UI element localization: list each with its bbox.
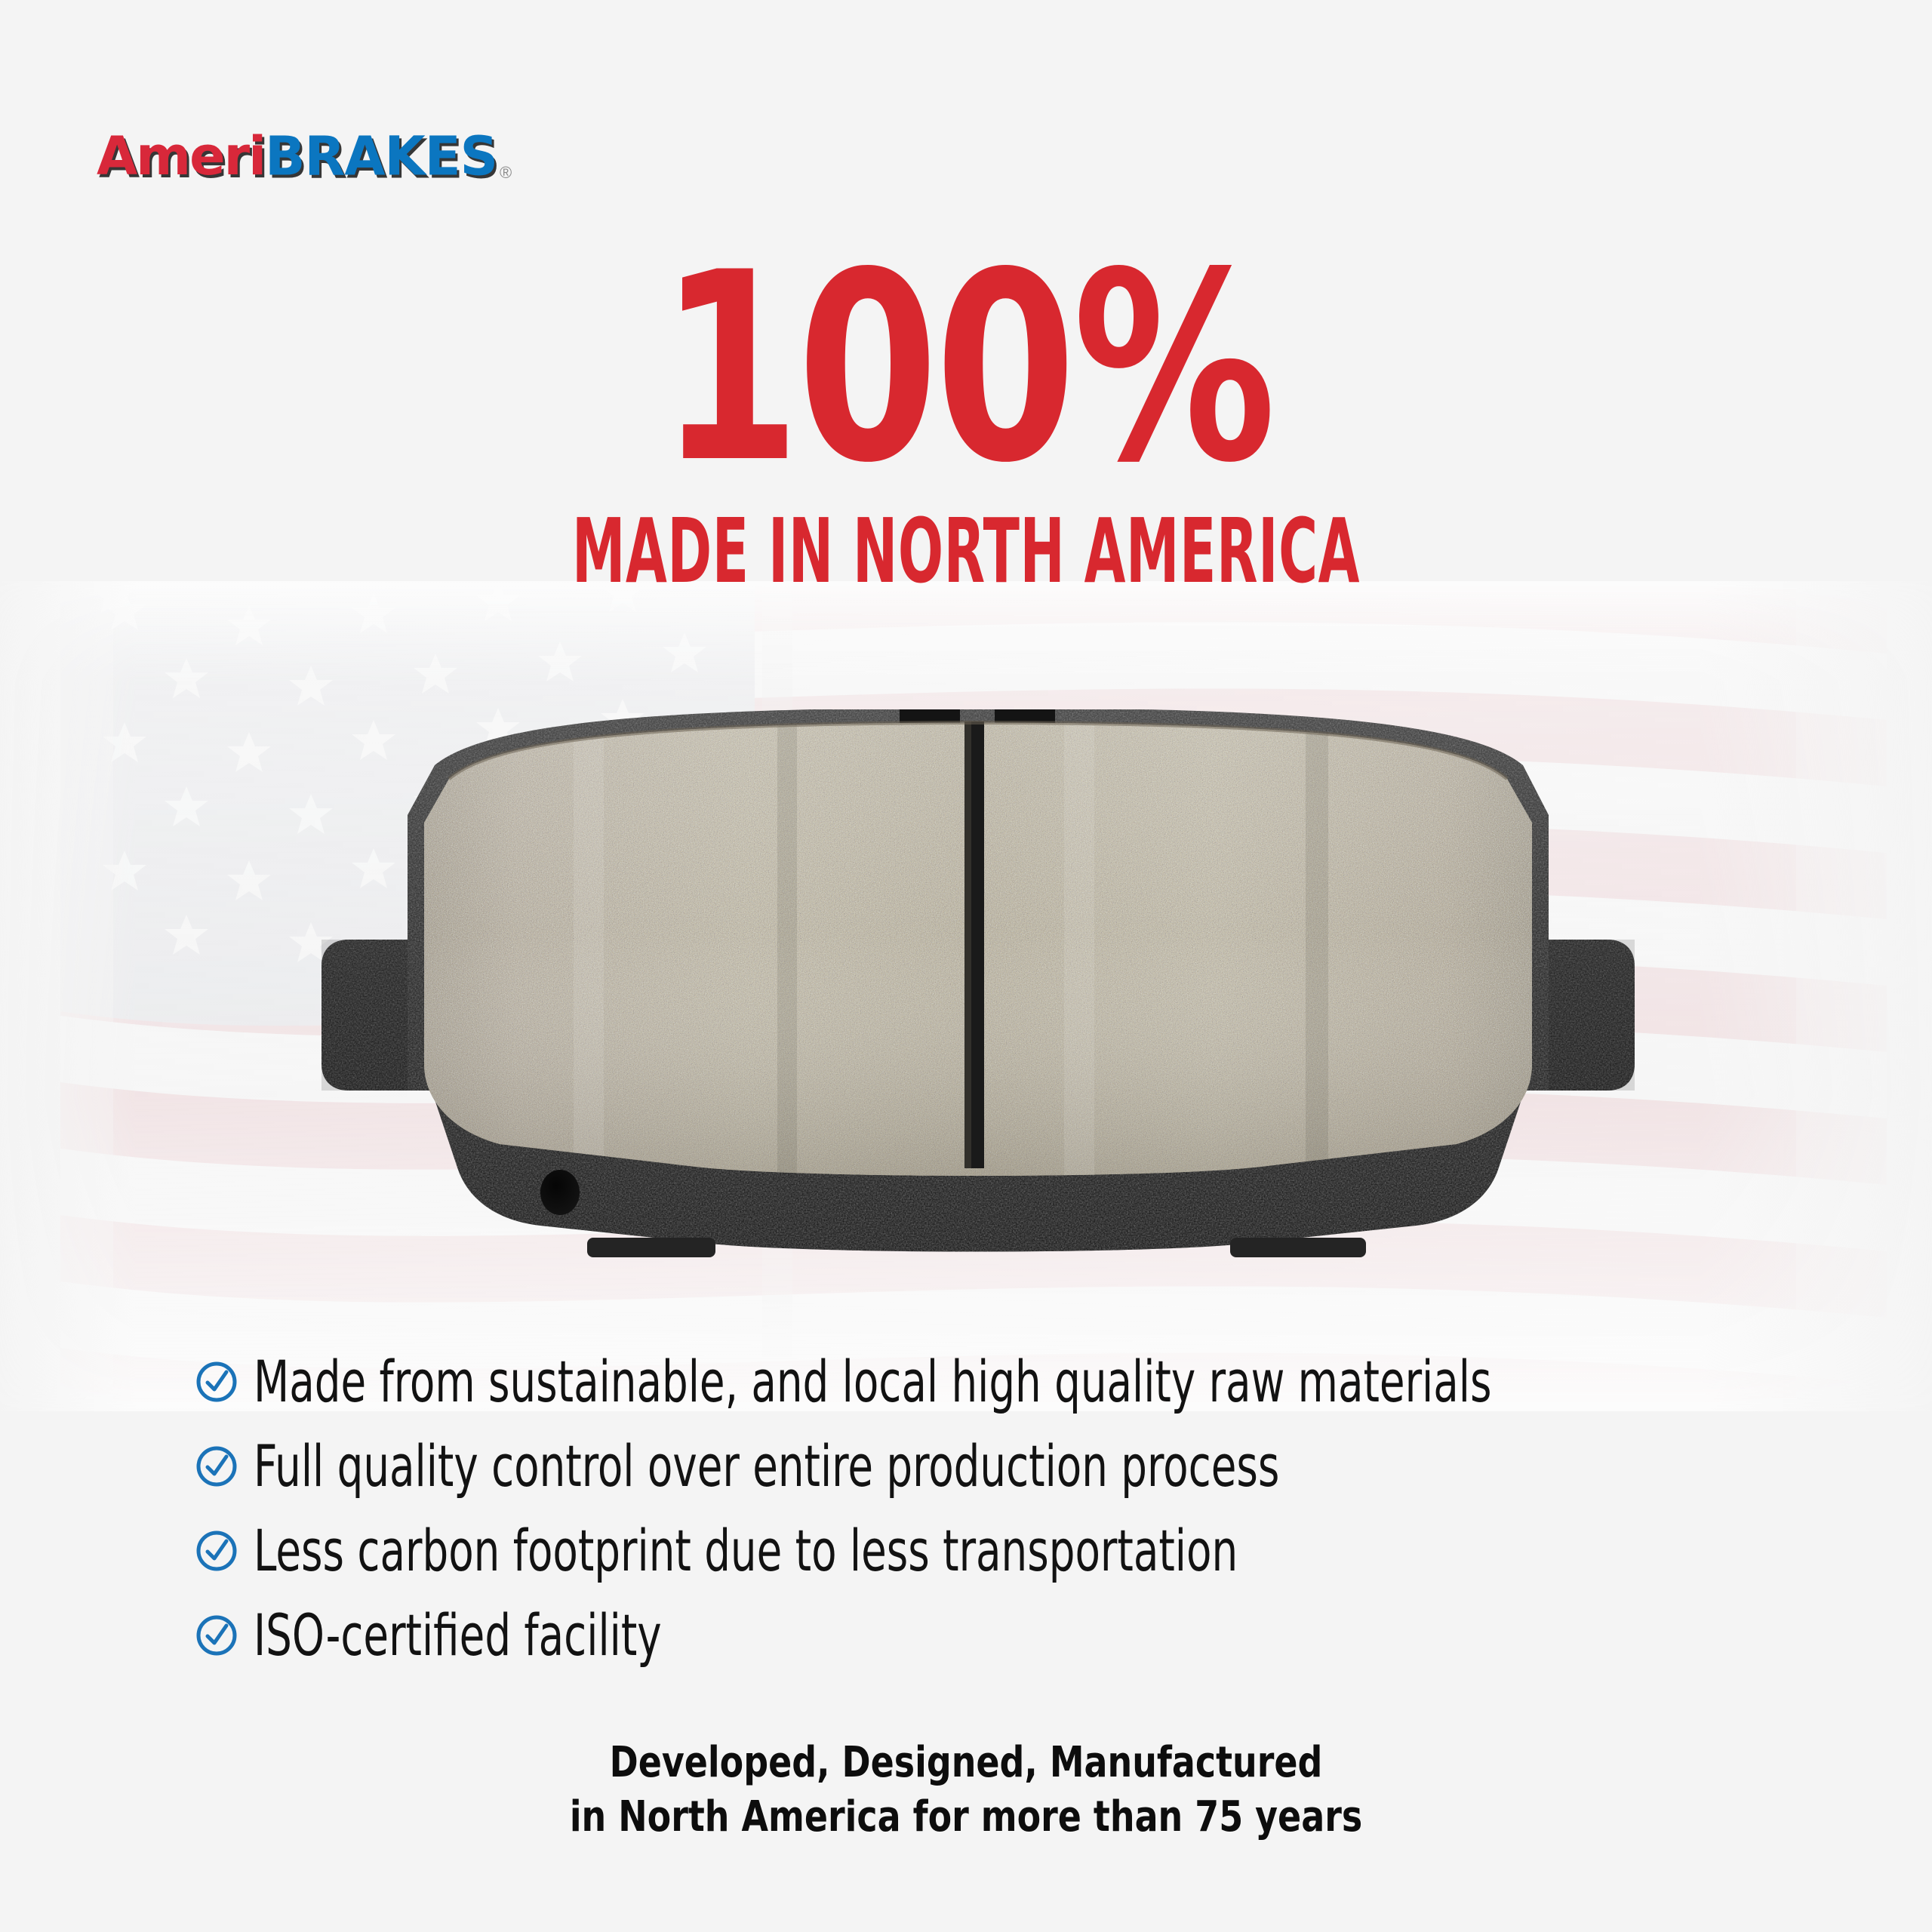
feature-item: Less carbon footprint due to less transp…: [195, 1509, 1780, 1593]
footer-text: Developed, Designed, Manufactured in Nor…: [0, 1736, 1932, 1844]
check-circle-icon: [195, 1614, 238, 1657]
feature-list: Made from sustainable, and local high qu…: [195, 1340, 1780, 1678]
pad-rivet-hole: [540, 1170, 580, 1215]
brand-logo: AmeriBRAKES®: [97, 130, 512, 183]
pad-center-slot: [964, 721, 984, 1168]
feature-label: ISO-certified facility: [254, 1607, 662, 1664]
footer-line-1: Developed, Designed, Manufactured: [174, 1736, 1758, 1790]
feature-item: ISO-certified facility: [195, 1593, 1780, 1678]
headline-subtitle: MADE IN NORTH AMERICA: [386, 506, 1546, 595]
logo-text-ameri: Ameri: [97, 130, 265, 183]
feature-label: Made from sustainable, and local high qu…: [254, 1353, 1491, 1411]
registered-trademark-symbol: ®: [500, 165, 512, 181]
feature-item: Made from sustainable, and local high qu…: [195, 1340, 1780, 1424]
check-circle-icon: [195, 1360, 238, 1404]
feature-label: Full quality control over entire product…: [254, 1438, 1279, 1495]
check-circle-icon: [195, 1529, 238, 1573]
headline-block: 100% MADE IN NORTH AMERICA: [0, 249, 1932, 595]
footer-line-2: in North America for more than 75 years: [174, 1790, 1758, 1844]
promo-banner: AmeriBRAKES® 100% MADE IN NORTH AMERICA: [0, 0, 1932, 1932]
brake-pad-product-image: [249, 709, 1706, 1306]
check-circle-icon: [195, 1444, 238, 1488]
headline-percent: 100%: [213, 249, 1720, 488]
feature-item: Full quality control over entire product…: [195, 1424, 1780, 1509]
feature-label: Less carbon footprint due to less transp…: [254, 1522, 1238, 1580]
logo-text-brakes: BRAKES: [265, 129, 497, 183]
